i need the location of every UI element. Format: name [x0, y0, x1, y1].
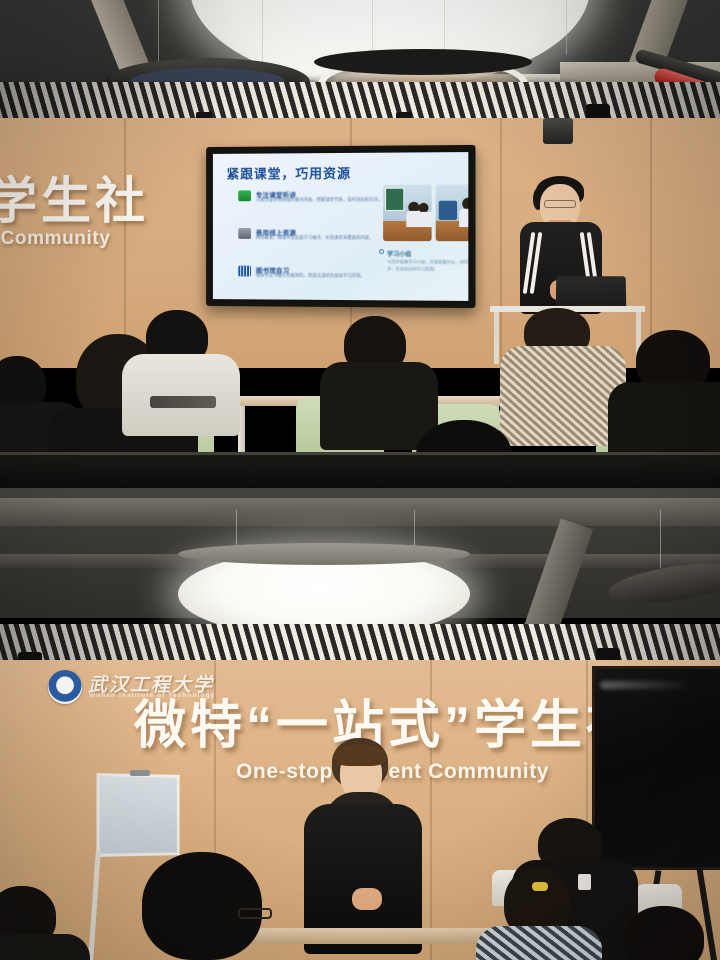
ceiling-bottom: [0, 488, 720, 618]
slide-photo-study: [436, 184, 469, 241]
audience-body: [0, 934, 90, 960]
light-hanging-wire: [262, 0, 263, 62]
audience-member: [470, 868, 610, 960]
audience-member: [120, 852, 288, 960]
hair-tie: [532, 882, 548, 891]
jacket-print-text: [150, 396, 216, 408]
screen-glare: [600, 681, 691, 689]
presentation-slide: 紧跟课堂，巧用资源 专注课堂听讲 认真记录老师讲授的重点内容，把握课堂节奏，及时…: [213, 152, 468, 301]
audience-jacket: [122, 354, 240, 436]
presenter-fringe: [334, 744, 386, 766]
slide-bullet-body: 利用慕课、网课平台反复学习难点，补充课堂未覆盖的内容。: [256, 235, 383, 242]
slide-bullet: 图书馆自习 借阅专业书籍与文献资料，营造沉浸式的高效学习环境。: [238, 265, 387, 266]
light-hanging-wire: [566, 0, 567, 55]
collage-panel-bottom: 武汉工程大学 Wuhan Institute of Technology 微特“…: [0, 488, 720, 960]
wall-headline-top: 式”学生社: [0, 176, 234, 226]
slide-photo-caption-body: 与同学组建学习小组，互相答疑讨论，共同进步，形成良好的学习氛围。: [387, 259, 468, 273]
student-body: [416, 212, 432, 227]
slide-bullet: 专注课堂听讲 认真记录老师讲授的重点内容，把握课堂节奏，及时消化知识点。: [238, 189, 387, 190]
audience-member: [128, 310, 244, 430]
blue-library-icon: [238, 266, 251, 277]
caption-bullet-icon: [379, 249, 384, 254]
rail-highlight: [0, 452, 720, 455]
audience-member: [622, 330, 720, 470]
presenter-glasses: [544, 200, 576, 208]
audience-member: [0, 886, 88, 960]
audience-head: [624, 906, 704, 960]
slide-photo-caption-heading: 学习小组: [387, 249, 411, 258]
ceiling-speaker: [543, 118, 573, 144]
slide-title: 紧跟课堂，巧用资源: [227, 163, 351, 183]
audience-plaid-jacket: [476, 926, 602, 960]
ceiling-beam: [0, 498, 720, 526]
whiteboard-clip: [130, 770, 150, 776]
slide-bullet-body: 认真记录老师讲授的重点内容，把握课堂节奏，及时消化知识点。: [256, 197, 383, 204]
eyeglasses: [238, 908, 272, 919]
foreground-rail-top: [0, 452, 720, 488]
wall-display-tv[interactable]: 紧跟课堂，巧用资源 专注课堂听讲 认真记录老师讲授的重点内容，把握课堂节奏，及时…: [206, 145, 475, 308]
light-hanging-wire: [372, 0, 373, 58]
gray-note-icon: [238, 228, 251, 239]
presenter-woman: [298, 738, 428, 960]
blackboard-shape: [385, 188, 404, 211]
audience-member: [610, 906, 720, 960]
audience-head: [142, 852, 262, 960]
podium-leg: [494, 312, 499, 364]
wall-seam: [500, 118, 502, 368]
slide-bullet-body: 借阅专业书籍与文献资料，营造沉浸式的高效学习环境。: [256, 273, 383, 280]
presenter-hands: [352, 888, 382, 910]
collage-panel-top: 式”学生社 udent Community 紧跟课堂，巧用资源 专注课堂听讲 认…: [0, 0, 720, 488]
laptop[interactable]: [556, 276, 627, 310]
photo-collage: 式”学生社 udent Community 紧跟课堂，巧用资源 专注课堂听讲 认…: [0, 0, 720, 960]
student-body: [459, 208, 468, 226]
slide-photo-classroom: [383, 185, 432, 242]
university-emblem-icon: [48, 670, 82, 704]
light-hanging-wire: [660, 510, 661, 568]
whiteboard-easel[interactable]: [97, 773, 180, 857]
monitor-shape: [438, 200, 457, 219]
green-board-icon: [238, 190, 251, 201]
light-hanging-wire: [158, 0, 159, 62]
